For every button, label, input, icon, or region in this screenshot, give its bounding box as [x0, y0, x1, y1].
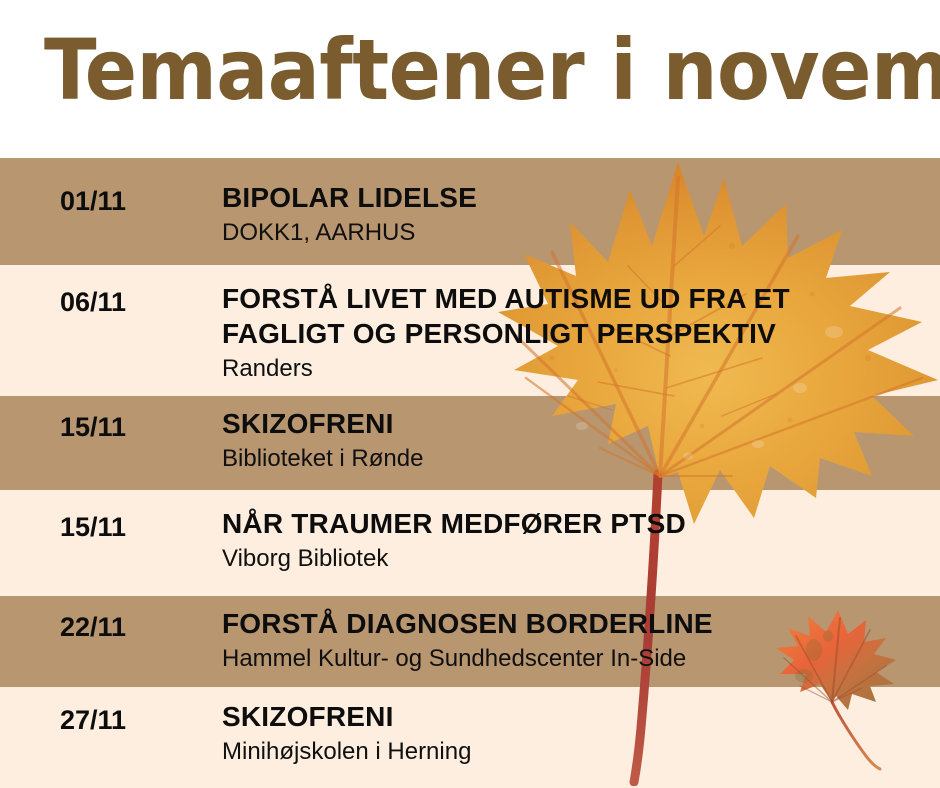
event-title: BIPOLAR LIDELSE: [222, 180, 932, 215]
event-row-1[interactable]: 01/11 BIPOLAR LIDELSE DOKK1, AARHUS: [0, 158, 940, 265]
event-title: NÅR TRAUMER MEDFØRER PTSD: [222, 506, 932, 541]
event-venue: Minihøjskolen i Herning: [222, 736, 932, 767]
header-band: Temaaftener i november: [0, 0, 940, 158]
event-venue: Viborg Bibliotek: [222, 543, 932, 574]
event-title: SKIZOFRENI: [222, 699, 932, 734]
event-date: 15/11: [60, 510, 126, 544]
event-venue: DOKK1, AARHUS: [222, 217, 932, 248]
event-title: FORSTÅ LIVET MED AUTISME UD FRA ET FAGLI…: [222, 281, 932, 351]
event-venue: Hammel Kultur- og Sundhedscenter In-Side: [222, 643, 932, 674]
event-title: FORSTÅ DIAGNOSEN BORDERLINE: [222, 606, 932, 641]
event-date: 15/11: [60, 410, 126, 444]
event-date: 06/11: [60, 285, 126, 319]
event-row-3[interactable]: 15/11 SKIZOFRENI Biblioteket i Rønde: [0, 396, 940, 490]
event-venue: Randers: [222, 353, 932, 384]
event-row-6[interactable]: 27/11 SKIZOFRENI Minihøjskolen i Herning: [0, 687, 940, 788]
event-date: 22/11: [60, 610, 126, 644]
poster-canvas: 01/11 BIPOLAR LIDELSE DOKK1, AARHUS 06/1…: [0, 0, 940, 788]
event-date: 01/11: [60, 184, 126, 218]
event-title: SKIZOFRENI: [222, 406, 932, 441]
page-title: Temaaftener i november: [44, 22, 931, 118]
event-date: 27/11: [60, 703, 126, 737]
event-row-5[interactable]: 22/11 FORSTÅ DIAGNOSEN BORDERLINE Hammel…: [0, 596, 940, 687]
event-venue: Biblioteket i Rønde: [222, 443, 932, 474]
event-row-4[interactable]: 15/11 NÅR TRAUMER MEDFØRER PTSD Viborg B…: [0, 490, 940, 596]
event-row-2[interactable]: 06/11 FORSTÅ LIVET MED AUTISME UD FRA ET…: [0, 265, 940, 396]
